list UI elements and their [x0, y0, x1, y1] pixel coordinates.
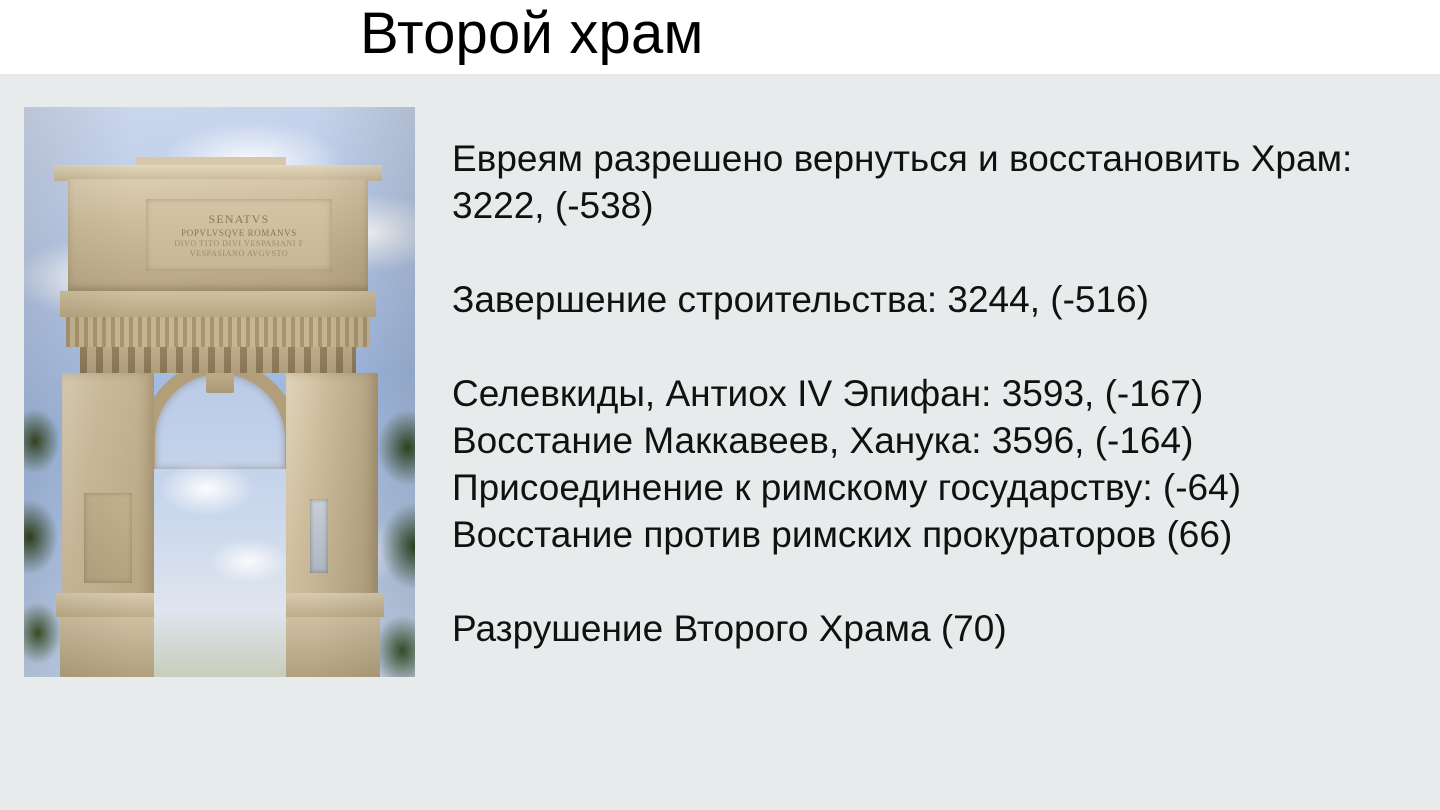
inscription-line-3: DIVO TITO DIVI VESPASIANI F — [174, 239, 303, 248]
paragraph-1: Евреям разрешено вернуться и восстановит… — [452, 135, 1422, 229]
text-line: Завершение строительства: 3244, (-516) — [452, 276, 1422, 323]
arch-of-titus-image: SENATVS POPVLVSQVE ROMANVS DIVO TITO DIV… — [24, 107, 415, 677]
arch-opening — [154, 373, 286, 677]
paragraph-3: Селевкиды, Антиох IV Эпифан: 3593, (-167… — [452, 370, 1422, 558]
latin-inscription-panel: SENATVS POPVLVSQVE ROMANVS DIVO TITO DIV… — [146, 199, 332, 271]
pier-plinth-right — [284, 617, 380, 677]
pier-base-left — [56, 593, 160, 617]
text-line: Восстание Маккавеев, Ханука: 3596, (-164… — [452, 417, 1422, 464]
text-line: Восстание против римских прокураторов (6… — [452, 511, 1422, 558]
inscription-line-4: VESPASIANO AVGVSTO — [190, 249, 288, 258]
triumphal-arch: SENATVS POPVLVSQVE ROMANVS DIVO TITO DIV… — [40, 179, 400, 677]
photo-canvas: SENATVS POPVLVSQVE ROMANVS DIVO TITO DIV… — [24, 107, 415, 677]
inscription-line-1: SENATVS — [208, 212, 269, 227]
entablature — [60, 291, 376, 317]
presentation-slide: Второй храм SENATVS POPVLVSQVE ROMANVS D… — [0, 0, 1440, 810]
pier-panel-left — [84, 493, 132, 583]
paragraph-4: Разрушение Второго Храма (70) — [452, 605, 1422, 652]
title-band — [0, 0, 1440, 74]
body-text-block: Евреям разрешено вернуться и восстановит… — [452, 135, 1422, 652]
pier-right — [286, 373, 378, 677]
text-line: Присоединение к римскому государству: (-… — [452, 464, 1422, 511]
text-line: Селевкиды, Антиох IV Эпифан: 3593, (-167… — [452, 370, 1422, 417]
inscription-line-2: POPVLVSQVE ROMANVS — [181, 228, 297, 238]
pier-plinth-left — [60, 617, 156, 677]
text-line: Евреям разрешено вернуться и восстановит… — [452, 135, 1422, 182]
text-line: Разрушение Второго Храма (70) — [452, 605, 1422, 652]
keystone — [206, 373, 234, 393]
relief-frieze — [80, 347, 356, 373]
attic-storey: SENATVS POPVLVSQVE ROMANVS DIVO TITO DIV… — [68, 179, 368, 291]
window-slot — [310, 499, 328, 573]
paragraph-2: Завершение строительства: 3244, (-516) — [452, 276, 1422, 323]
text-line: 3222, (-538) — [452, 182, 1422, 229]
pier-base-right — [280, 593, 384, 617]
page-title: Второй храм — [360, 0, 704, 70]
dentil-frieze — [66, 317, 370, 347]
pier-left — [62, 373, 154, 677]
